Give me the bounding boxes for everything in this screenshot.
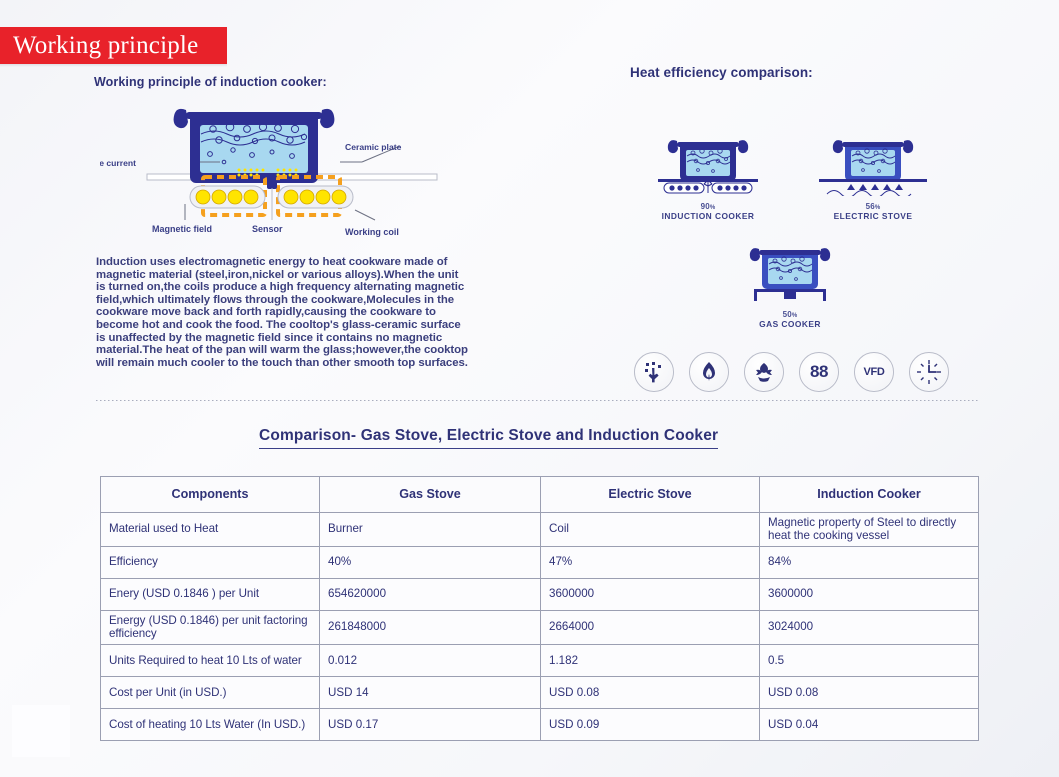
th-induction-cooker: Induction Cooker [760, 477, 979, 513]
row-label: Cost per Unit (in USD.) [101, 677, 320, 709]
timer-clock-icon[interactable] [909, 352, 949, 392]
row-label: Efficiency [101, 547, 320, 579]
comparison-title: Comparison- Gas Stove, Electric Stove an… [259, 427, 718, 449]
cell-electric: 1.182 [541, 645, 760, 677]
left-section-caption: Working principle of induction cooker: [94, 75, 327, 89]
efficiency-item-electric: 56% ELECTRIC STOVE [803, 130, 943, 221]
cell-electric: 2664000 [541, 611, 760, 645]
cell-electric: 3600000 [541, 579, 760, 611]
flame-icon[interactable] [689, 352, 729, 392]
label-eddie-current: Eddie current [100, 158, 136, 168]
efficiency-percent: 56% [803, 202, 943, 211]
efficiency-item-gas: 50% GAS COOKER [720, 242, 860, 329]
cell-induction: USD 0.08 [760, 677, 979, 709]
digital-display-icon[interactable]: 88 [799, 352, 839, 392]
comparison-table-wrap: Components Gas Stove Electric Stove Indu… [100, 476, 978, 741]
row-label: Units Required to heat 10 Lts of water [101, 645, 320, 677]
table-row: Efficiency 40% 47% 84% [101, 547, 979, 579]
section-banner: Working principle [0, 27, 227, 64]
efficiency-name: INDUCTION COOKER [638, 211, 778, 221]
cell-electric: 47% [541, 547, 760, 579]
cell-gas: USD 0.17 [320, 709, 541, 741]
right-section-caption: Heat efficiency comparison: [630, 65, 813, 80]
efficiency-name: ELECTRIC STOVE [803, 211, 943, 221]
electric-stove-icon [803, 130, 943, 196]
induction-cooker-icon [638, 130, 778, 196]
row-label: Energy (USD 0.1846) per unit factoring e… [101, 611, 320, 645]
efficiency-percent: 50% [720, 310, 860, 319]
efficiency-item-induction: 90% INDUCTION COOKER [638, 130, 778, 221]
cell-gas: Burner [320, 513, 541, 547]
label-magnetic-field: Magnetic field [152, 224, 212, 234]
label-working-coil: Working coil [345, 227, 399, 237]
cell-induction: USD 0.04 [760, 709, 979, 741]
cell-gas: 261848000 [320, 611, 541, 645]
banner-shadow [0, 64, 227, 67]
table-header-row: Components Gas Stove Electric Stove Indu… [101, 477, 979, 513]
induction-principle-diagram: Eddie current Ceramic plate Magnetic fie… [100, 92, 475, 247]
cell-induction: 0.5 [760, 645, 979, 677]
cell-electric: USD 0.09 [541, 709, 760, 741]
row-label: Enery (USD 0.1846 ) per Unit [101, 579, 320, 611]
table-row: Cost of heating 10 Lts Water (In USD.) U… [101, 709, 979, 741]
row-label: Material used to Heat [101, 513, 320, 547]
table-row: Energy (USD 0.1846) per unit factoring e… [101, 611, 979, 645]
cell-induction: 3600000 [760, 579, 979, 611]
cell-gas: USD 14 [320, 677, 541, 709]
label-sensor: Sensor [252, 224, 283, 234]
cell-electric: USD 0.08 [541, 677, 760, 709]
section-divider [96, 400, 980, 401]
touch-control-icon[interactable] [634, 352, 674, 392]
cell-gas: 40% [320, 547, 541, 579]
label-ceramic-plate: Ceramic plate [345, 142, 402, 152]
principle-paragraph: Induction uses electromagnetic energy to… [96, 256, 468, 369]
efficiency-name: GAS COOKER [720, 319, 860, 329]
th-components: Components [101, 477, 320, 513]
cell-electric: Coil [541, 513, 760, 547]
row-label: Cost of heating 10 Lts Water (In USD.) [101, 709, 320, 741]
gas-cooker-icon [720, 242, 860, 304]
th-electric-stove: Electric Stove [541, 477, 760, 513]
fan-circulation-icon[interactable] [744, 352, 784, 392]
cell-induction: 84% [760, 547, 979, 579]
heat-efficiency-group: 90% INDUCTION COOKER [628, 130, 988, 340]
table-row: Material used to Heat Burner Coil Magnet… [101, 513, 979, 547]
efficiency-percent: 90% [638, 202, 778, 211]
vfd-display-icon[interactable]: VFD [854, 352, 894, 392]
cell-induction: 3024000 [760, 611, 979, 645]
table-row: Enery (USD 0.1846 ) per Unit 654620000 3… [101, 579, 979, 611]
table-row: Units Required to heat 10 Lts of water 0… [101, 645, 979, 677]
feature-icon-strip: 88 VFD [634, 352, 949, 392]
slide-page: Working principle Working principle of i… [0, 0, 1059, 777]
banner-title: Working principle [0, 33, 198, 58]
cell-induction: Magnetic property of Steel to directly h… [760, 513, 979, 547]
comparison-table: Components Gas Stove Electric Stove Indu… [100, 476, 979, 741]
table-row: Cost per Unit (in USD.) USD 14 USD 0.08 … [101, 677, 979, 709]
cell-gas: 0.012 [320, 645, 541, 677]
th-gas-stove: Gas Stove [320, 477, 541, 513]
cell-gas: 654620000 [320, 579, 541, 611]
corner-placeholder-box [12, 705, 70, 757]
